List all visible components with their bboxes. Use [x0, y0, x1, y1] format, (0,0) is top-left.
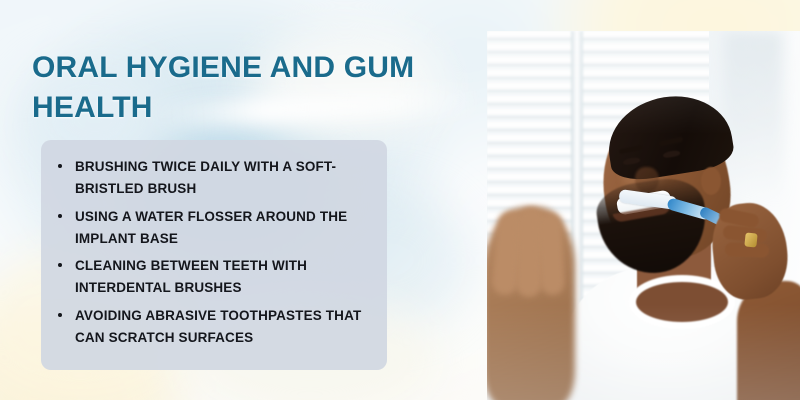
- list-item: CLEANING BETWEEN TEETH WITH INTERDENTAL …: [73, 255, 371, 299]
- slide-canvas: ORAL HYGIENE AND GUM HEALTH BRUSHING TWI…: [0, 0, 800, 400]
- hero-photo-content: [487, 31, 800, 400]
- slide-title: ORAL HYGIENE AND GUM HEALTH: [32, 48, 452, 127]
- hero-photo: [487, 31, 800, 400]
- person-ear: [701, 167, 721, 195]
- bullet-list: BRUSHING TWICE DAILY WITH A SOFT-BRISTLE…: [41, 140, 387, 349]
- list-item: AVOIDING ABRASIVE TOOTHPASTES THAT CAN S…: [73, 305, 371, 349]
- tshirt-collar: [629, 275, 735, 329]
- finger-ring: [744, 232, 757, 247]
- bullet-card: BRUSHING TWICE DAILY WITH A SOFT-BRISTLE…: [41, 140, 387, 370]
- list-item: USING A WATER FLOSSER AROUND THE IMPLANT…: [73, 206, 371, 250]
- foreground-hand-finger: [537, 212, 565, 295]
- list-item: BRUSHING TWICE DAILY WITH A SOFT-BRISTLE…: [73, 156, 371, 200]
